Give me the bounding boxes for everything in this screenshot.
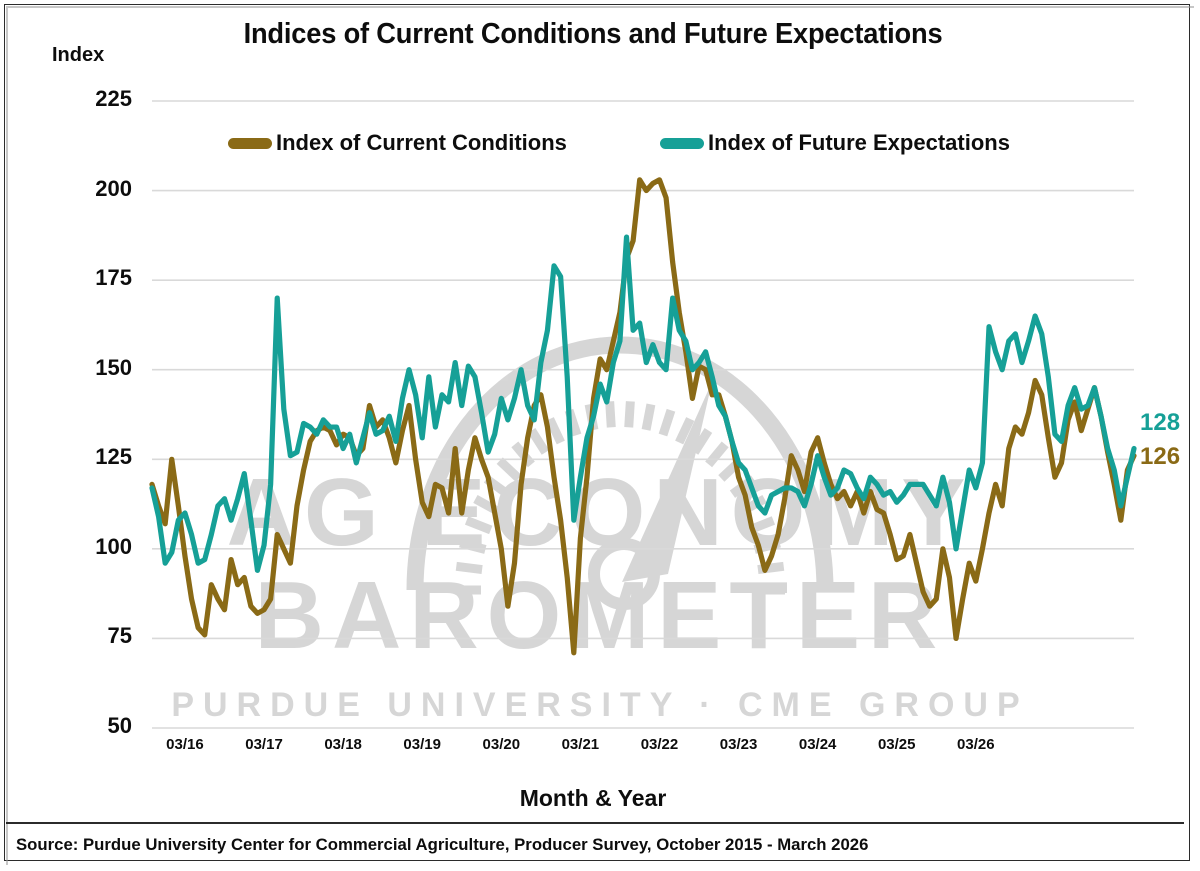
svg-text:BAROMETER: BAROMETER [255, 562, 946, 669]
y-axis-tick: 175 [46, 265, 132, 291]
x-axis-tick: 03/21 [540, 736, 620, 753]
plot-area: AG ECONOMYBAROMETERPURDUE UNIVERSITY · C… [0, 0, 1186, 857]
end-label-current-conditions: 126 [1140, 443, 1180, 471]
y-axis-tick: 150 [46, 355, 132, 381]
x-axis-tick: 03/18 [303, 736, 383, 753]
legend-swatch-icon [228, 138, 272, 149]
y-axis-tick: 225 [46, 86, 132, 112]
legend-item-future-expectations[interactable]: Index of Future Expectations [660, 130, 1010, 156]
x-axis-tick: 03/25 [857, 736, 937, 753]
y-axis-tick: 125 [46, 444, 132, 470]
x-axis-tick: 03/16 [145, 736, 225, 753]
line-chart-svg: AG ECONOMYBAROMETERPURDUE UNIVERSITY · C… [0, 0, 1186, 857]
x-axis-tick: 03/24 [778, 736, 858, 753]
legend-label: Index of Current Conditions [276, 130, 567, 156]
x-axis-tick: 03/17 [224, 736, 304, 753]
x-axis-tick: 03/19 [382, 736, 462, 753]
y-axis-tick: 100 [46, 534, 132, 560]
end-label-future-expectations: 128 [1140, 409, 1180, 437]
legend-swatch-icon [660, 138, 704, 149]
x-axis-tick: 03/20 [461, 736, 541, 753]
watermark-group: AG ECONOMYBAROMETERPURDUE UNIVERSITY · C… [171, 345, 1028, 724]
y-axis-tick: 50 [46, 713, 132, 739]
source-divider [6, 822, 1184, 824]
legend-item-current-conditions[interactable]: Index of Current Conditions [228, 130, 567, 156]
x-axis-tick: 03/26 [936, 736, 1016, 753]
y-axis-tick: 200 [46, 176, 132, 202]
svg-text:PURDUE UNIVERSITY · CME GROU: PURDUE UNIVERSITY · CME GROUP [171, 686, 1028, 724]
source-note: Source: Purdue University Center for Com… [16, 835, 868, 855]
x-axis-tick: 03/22 [619, 736, 699, 753]
x-axis-tick: 03/23 [699, 736, 779, 753]
y-axis-tick: 75 [46, 623, 132, 649]
legend-label: Index of Future Expectations [708, 130, 1010, 156]
